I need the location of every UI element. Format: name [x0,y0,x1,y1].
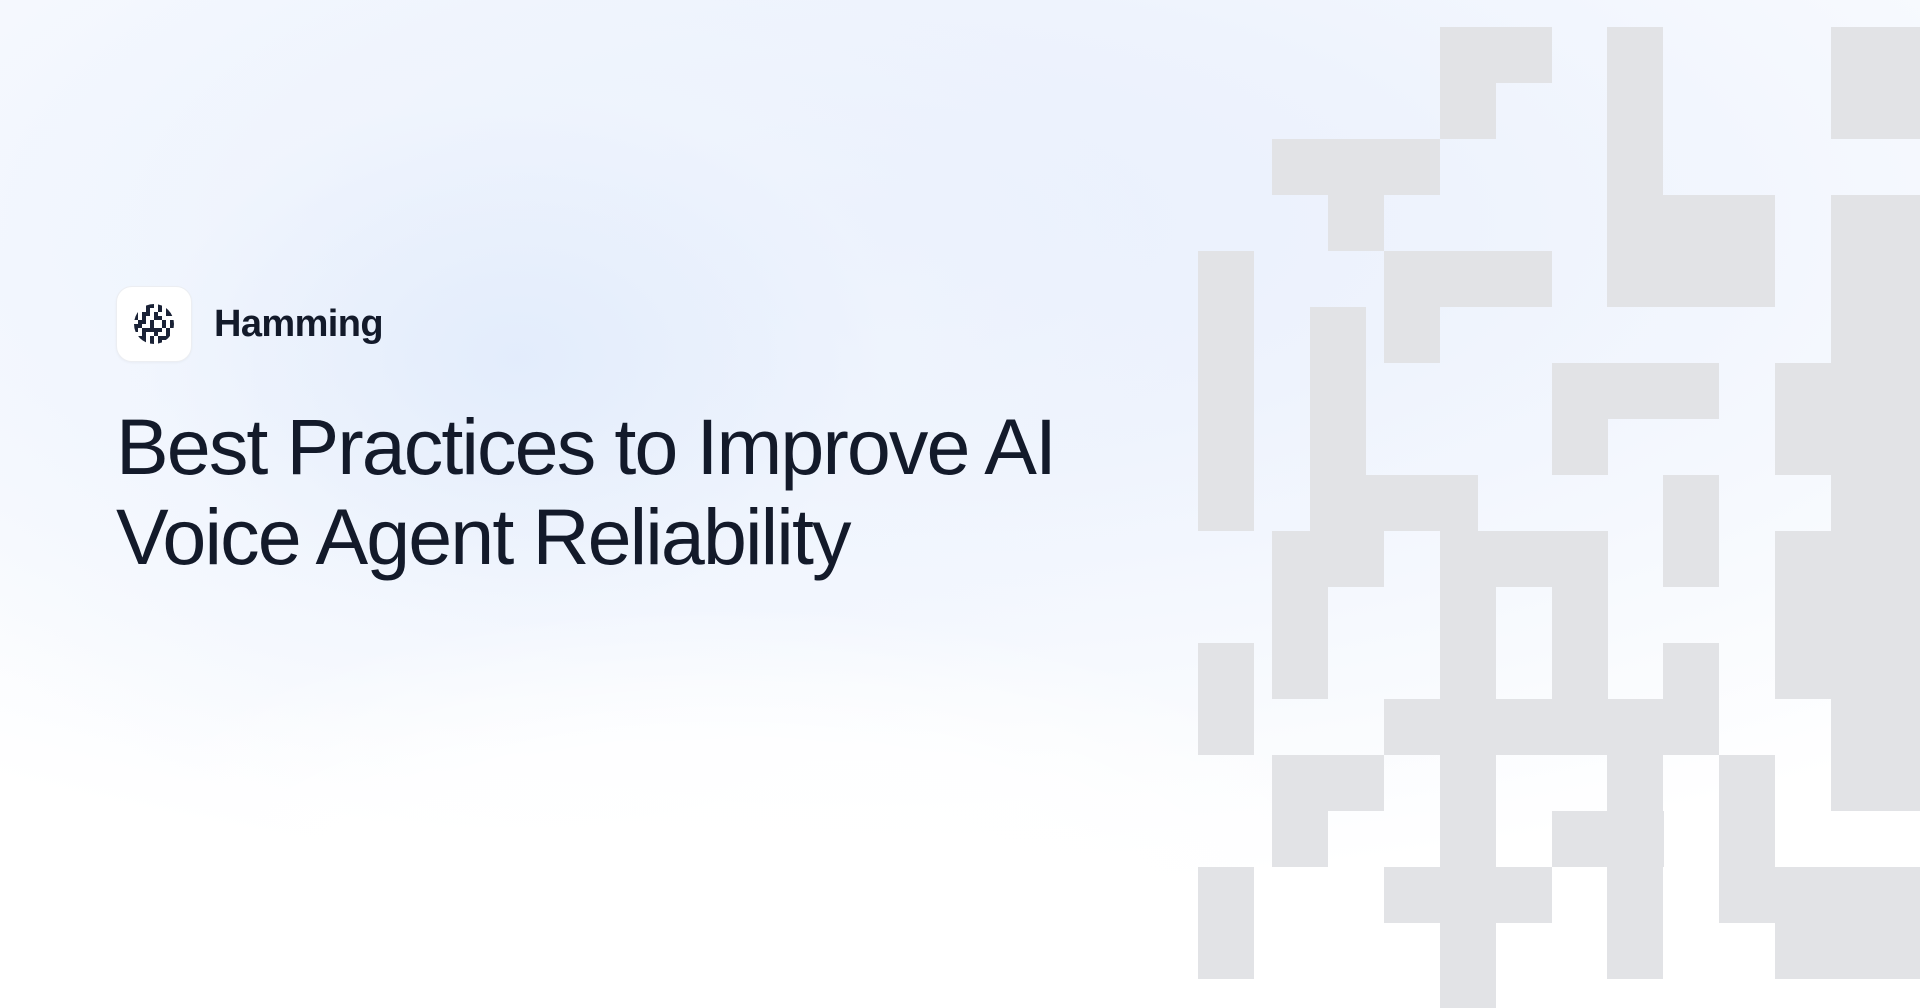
hamming-maze-logo-icon [116,286,192,362]
hero-content: Hamming Best Practices to Improve AI Voi… [116,286,1176,581]
brand-lockup: Hamming [116,286,1176,362]
maze-tetromino-pattern-icon [1140,0,1920,1008]
brand-name: Hamming [214,305,383,343]
hero-banner: Hamming Best Practices to Improve AI Voi… [0,0,1920,1008]
page-title: Best Practices to Improve AI Voice Agent… [116,402,1076,581]
